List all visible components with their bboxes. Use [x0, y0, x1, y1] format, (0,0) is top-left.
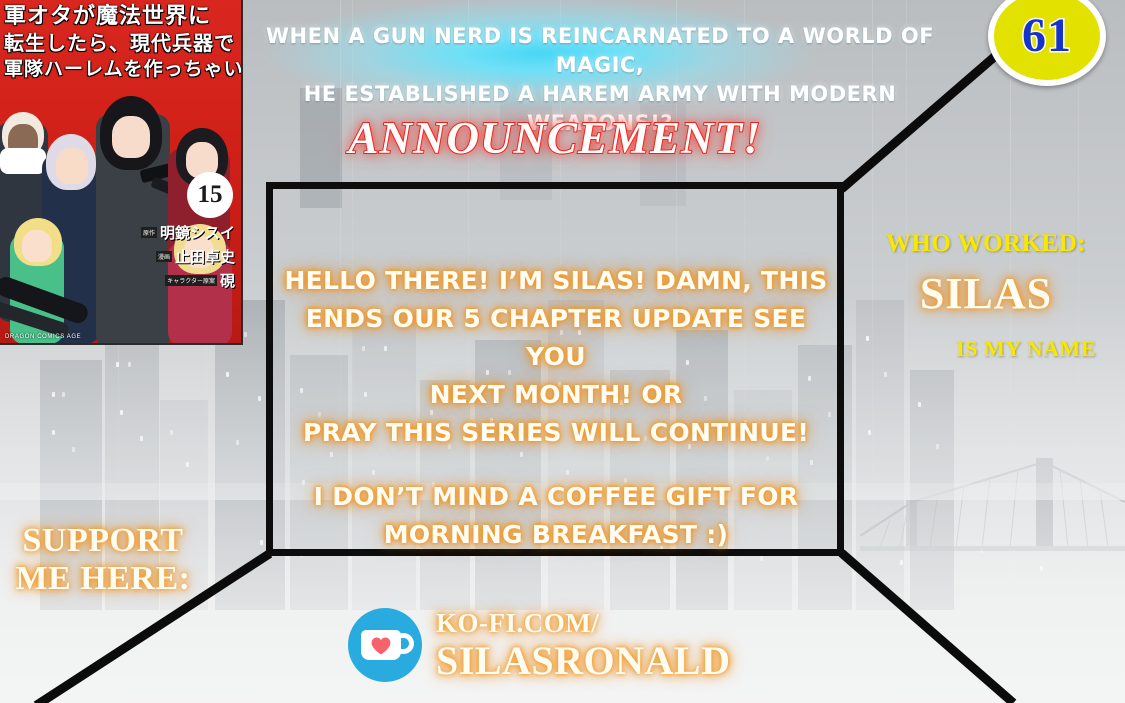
- cover-credit-tag-3: キャラクター原案: [165, 275, 217, 286]
- cover-credits: 原作 明鏡シスイ 漫画 止田卓史 キャラクター原案 硯: [141, 222, 235, 294]
- announcement-p1-line-2: ENDS OUR 5 CHAPTER UPDATE SEE YOU: [278, 300, 834, 376]
- cover-jp-line-2: 転生したら、現代兵器で: [4, 30, 237, 56]
- series-title-line-1: WHEN A GUN NERD IS REINCARNATED TO A WOR…: [255, 22, 945, 80]
- chapter-number-text: 61: [1022, 12, 1072, 60]
- kofi-url-text: KO-FI.COM/ SILASRONALD: [436, 610, 730, 681]
- announcement-p1-line-1: HELLO THERE! I’M SILAS! DAMN, THIS: [278, 262, 834, 300]
- announcement-page: 軍オタが魔法世界に 転生したら、現代兵器で 軍隊ハーレムを作っちゃいました!? …: [0, 0, 1125, 703]
- announcement-message-text: HELLO THERE! I’M SILAS! DAMN, THIS ENDS …: [278, 262, 834, 554]
- who-worked-label: WHO WORKED:: [862, 230, 1110, 258]
- kofi-url-line-1: KO-FI.COM/: [436, 610, 730, 637]
- heart-icon: [371, 637, 391, 655]
- cover-credit-name-3: 硯: [220, 270, 235, 291]
- cover-credit-row: 原作 明鏡シスイ: [141, 222, 235, 243]
- announcement-paragraph-1: HELLO THERE! I’M SILAS! DAMN, THIS ENDS …: [278, 262, 834, 452]
- support-me-here-label: SUPPORT ME HERE:: [8, 522, 198, 598]
- cover-credit-tag-1: 原作: [141, 227, 157, 238]
- kofi-logo-icon: [348, 608, 422, 682]
- cover-jp-line-1: 軍オタが魔法世界に: [4, 4, 237, 30]
- announcement-p1-line-3: NEXT MONTH! OR: [278, 376, 834, 414]
- announcement-paragraph-2: I DON’T MIND A COFFEE GIFT FOR MORNING B…: [278, 478, 834, 554]
- cover-credit-row: キャラクター原案 硯: [141, 270, 235, 291]
- cover-japanese-title: 軍オタが魔法世界に 転生したら、現代兵器で 軍隊ハーレムを作っちゃいました!?: [4, 4, 237, 94]
- kofi-cup-shape: [361, 630, 401, 660]
- announcement-p2-line-2: MORNING BREAKFAST :): [278, 516, 834, 554]
- cover-jp-line-3: 軍隊ハーレムを作っちゃいました!?: [4, 56, 237, 82]
- kofi-cup-handle: [398, 633, 414, 654]
- is-my-name-label: IS MY NAME: [862, 336, 1110, 362]
- cover-imprint-label: DRAGON COMICS AGE: [5, 334, 81, 340]
- cover-credit-name-1: 明鏡シスイ: [160, 222, 235, 243]
- cover-credit-tag-2: 漫画: [156, 251, 172, 262]
- cover-credit-name-2: 止田卓史: [175, 246, 235, 267]
- announcement-p2-line-1: I DON’T MIND A COFFEE GIFT FOR: [278, 478, 834, 516]
- announcement-heading: ANNOUNCEMENT!: [265, 112, 845, 164]
- kofi-link[interactable]: KO-FI.COM/ SILASRONALD: [348, 605, 778, 685]
- cover-volume-number: 15: [187, 172, 233, 218]
- kofi-url-line-2: SILASRONALD: [436, 641, 730, 681]
- credited-name: SILAS: [862, 268, 1110, 319]
- manga-cover-thumbnail[interactable]: 軍オタが魔法世界に 転生したら、現代兵器で 軍隊ハーレムを作っちゃいました!? …: [0, 0, 243, 345]
- announcement-p1-line-4: PRAY THIS SERIES WILL CONTINUE!: [278, 414, 834, 452]
- support-line-1: SUPPORT: [8, 522, 198, 560]
- support-line-2: ME HERE:: [8, 560, 198, 598]
- cover-credit-row: 漫画 止田卓史: [141, 246, 235, 267]
